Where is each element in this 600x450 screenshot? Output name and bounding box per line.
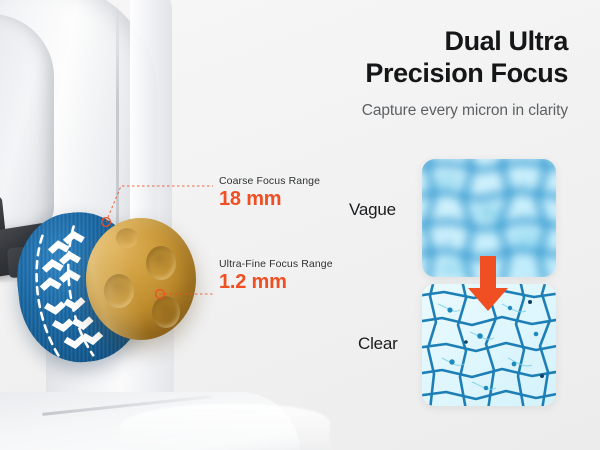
callout-ultra-fine-title: Ultra-Fine Focus Range — [219, 258, 333, 270]
callout-ultra-fine: Ultra-Fine Focus Range 1.2 mm — [219, 258, 333, 294]
callout-ultra-fine-value: 1.2 mm — [219, 271, 333, 294]
callout-coarse: Coarse Focus Range 18 mm — [219, 175, 320, 211]
microscope-base-highlight — [120, 404, 330, 450]
callout-coarse-value: 18 mm — [219, 188, 320, 211]
promo-banner: Coarse Focus Range 18 mm Ultra-Fine Focu… — [0, 0, 600, 450]
sample-label-vague: Vague — [349, 200, 396, 220]
knob-dimple — [104, 274, 134, 308]
callout-coarse-title: Coarse Focus Range — [219, 175, 320, 187]
sample-label-clear: Clear — [358, 334, 398, 354]
page-title-line1: Dual Ultra — [148, 26, 568, 58]
microscope-arm-inner — [0, 14, 54, 234]
page-title-line2: Precision Focus — [148, 58, 568, 90]
headline-block: Dual Ultra Precision Focus Capture every… — [148, 26, 568, 120]
knob-dimple — [146, 246, 176, 280]
knob-dimple — [152, 296, 180, 328]
fine-focus-knob[interactable] — [86, 218, 196, 340]
page-subtitle: Capture every micron in clarity — [148, 102, 568, 120]
arrow-down-icon — [467, 256, 509, 312]
knob-dimple — [116, 228, 138, 248]
